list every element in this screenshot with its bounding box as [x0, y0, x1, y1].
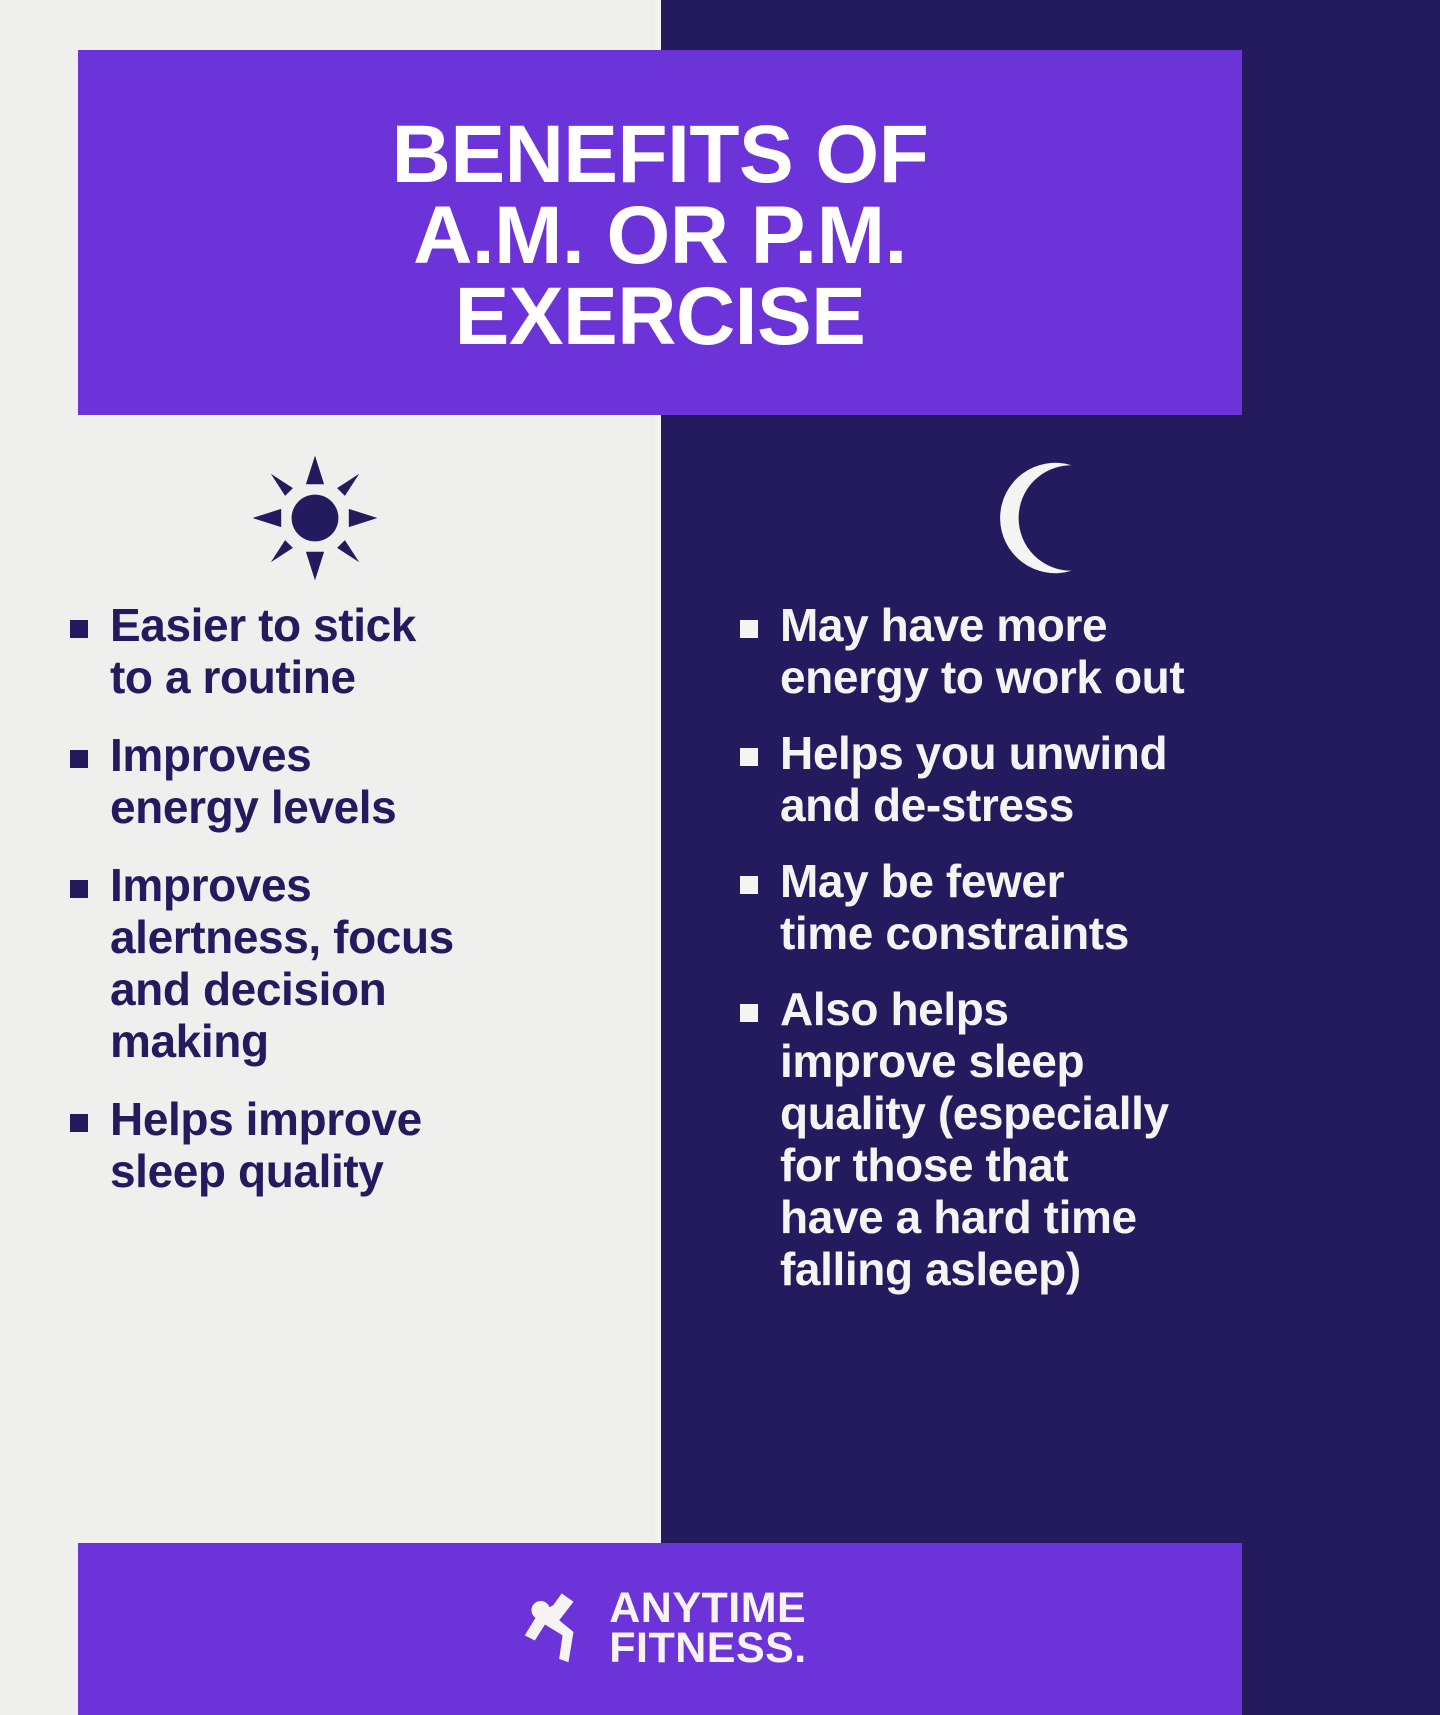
- moon-icon: [985, 458, 1105, 583]
- list-item-label: Improves alertness, focus and decision m…: [110, 860, 454, 1068]
- logo-line-2: FITNESS.: [609, 1629, 807, 1669]
- square-bullet-icon: [70, 1114, 88, 1132]
- page-title: BENEFITS OF A.M. OR P.M. EXERCISE: [392, 108, 929, 358]
- list-item: Improves alertness, focus and decision m…: [70, 860, 620, 1068]
- list-item: May be fewer time constraints: [740, 856, 1380, 960]
- sun-icon: [250, 453, 380, 588]
- square-bullet-icon: [70, 880, 88, 898]
- am-icon-row: [70, 440, 620, 600]
- square-bullet-icon: [740, 1004, 758, 1022]
- list-item-label: May be fewer time constraints: [780, 856, 1129, 960]
- list-item-label: Helps you unwind and de-stress: [780, 728, 1167, 832]
- pm-icon-row: [740, 440, 1380, 600]
- am-bullet-list: Easier to stick to a routine Improves en…: [70, 600, 620, 1198]
- list-item: Improves energy levels: [70, 730, 620, 834]
- list-item-label: Easier to stick to a routine: [110, 600, 416, 704]
- list-item: Helps improve sleep quality: [70, 1094, 620, 1198]
- running-person-icon: [513, 1585, 597, 1674]
- pm-bullet-list: May have more energy to work out Helps y…: [740, 600, 1380, 1296]
- square-bullet-icon: [70, 750, 88, 768]
- pm-column: May have more energy to work out Helps y…: [660, 440, 1440, 1500]
- anytime-fitness-logo: ANYTIME FITNESS.: [513, 1585, 807, 1674]
- square-bullet-icon: [740, 620, 758, 638]
- list-item: Helps you unwind and de-stress: [740, 728, 1380, 832]
- list-item: Easier to stick to a routine: [70, 600, 620, 704]
- list-item: Also helps improve sleep quality (especi…: [740, 984, 1380, 1296]
- square-bullet-icon: [740, 748, 758, 766]
- square-bullet-icon: [740, 876, 758, 894]
- list-item-label: Also helps improve sleep quality (especi…: [780, 984, 1169, 1296]
- list-item-label: Helps improve sleep quality: [110, 1094, 422, 1198]
- list-item-label: Improves energy levels: [110, 730, 396, 834]
- am-column: Easier to stick to a routine Improves en…: [0, 440, 660, 1500]
- square-bullet-icon: [70, 620, 88, 638]
- infographic-poster: BENEFITS OF A.M. OR P.M. EXERCISE: [0, 0, 1440, 1715]
- header-band: BENEFITS OF A.M. OR P.M. EXERCISE: [78, 50, 1242, 415]
- footer-band: ANYTIME FITNESS.: [78, 1543, 1242, 1715]
- logo-wordmark: ANYTIME FITNESS.: [609, 1589, 807, 1668]
- list-item-label: May have more energy to work out: [780, 600, 1184, 704]
- list-item: May have more energy to work out: [740, 600, 1380, 704]
- benefits-columns: Easier to stick to a routine Improves en…: [0, 440, 1440, 1500]
